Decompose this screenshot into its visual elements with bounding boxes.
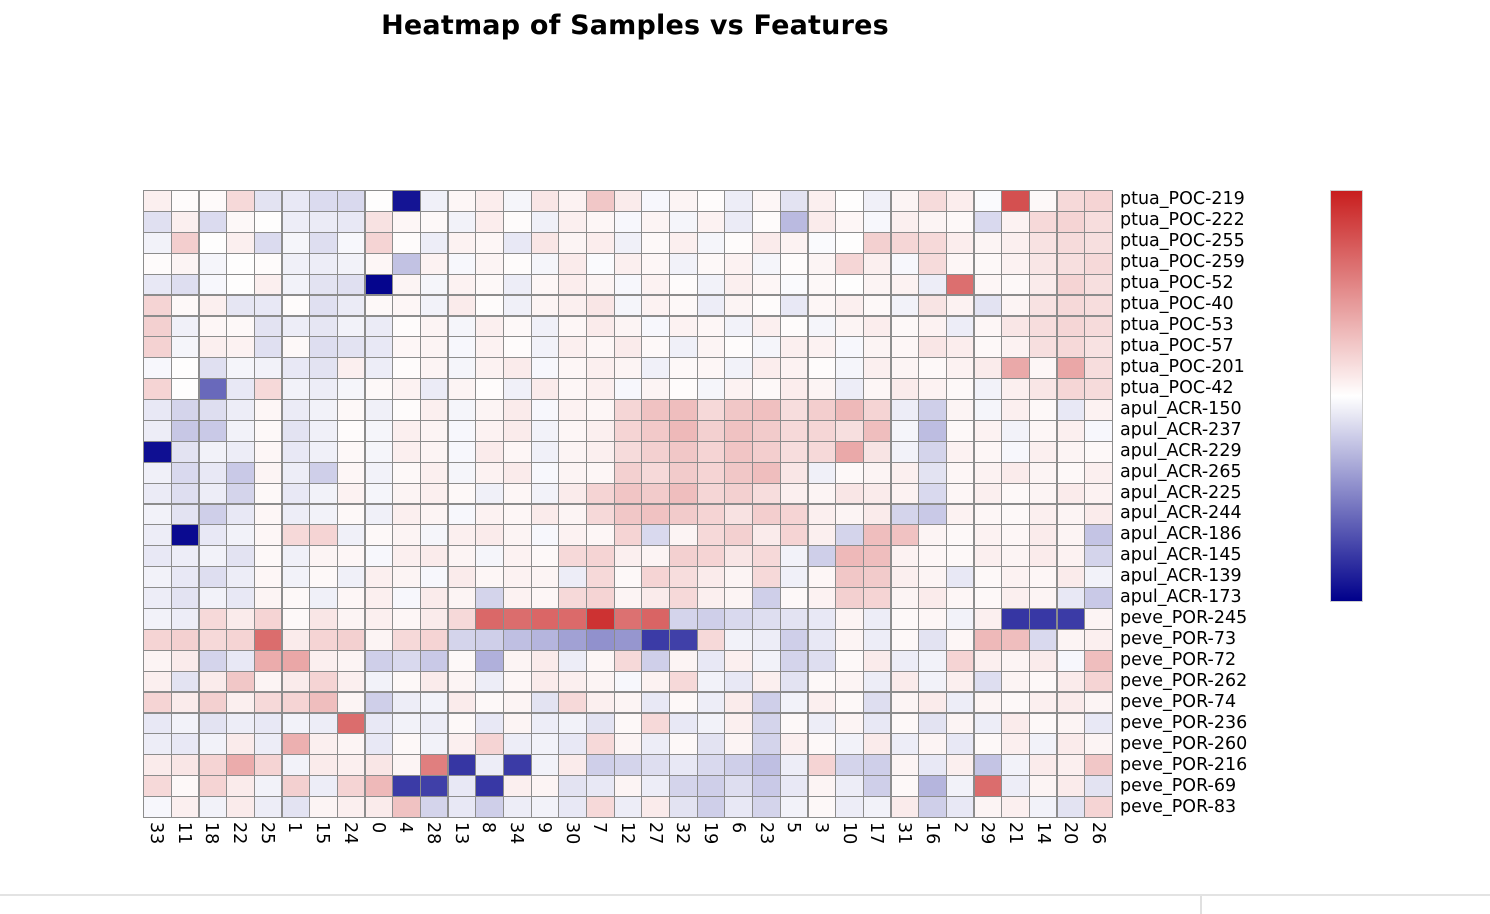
heatmap-cell[interactable] (144, 693, 170, 713)
heatmap-cell[interactable] (200, 651, 226, 671)
heatmap-cell[interactable] (366, 567, 392, 587)
heatmap-cell[interactable] (366, 734, 392, 754)
heatmap-cell[interactable] (642, 630, 669, 650)
heatmap-cell[interactable] (753, 212, 780, 232)
heatmap-cell[interactable] (809, 379, 835, 399)
heatmap-cell[interactable] (892, 672, 919, 692)
heatmap-cell[interactable] (172, 609, 199, 629)
heatmap-cell[interactable] (1058, 296, 1085, 316)
heatmap-cell[interactable] (338, 379, 365, 399)
heatmap-cell[interactable] (504, 797, 530, 817)
heatmap-cell[interactable] (393, 484, 420, 504)
heatmap-cell[interactable] (1058, 275, 1085, 295)
heatmap-cell[interactable] (227, 191, 254, 211)
heatmap-cell[interactable] (725, 755, 751, 775)
heatmap-cell[interactable] (670, 233, 696, 253)
heatmap-cell[interactable] (310, 317, 336, 337)
heatmap-cell[interactable] (227, 651, 254, 671)
heatmap-cell[interactable] (753, 442, 780, 462)
heatmap-cell[interactable] (476, 505, 503, 525)
heatmap-cell[interactable] (393, 651, 420, 671)
heatmap-cell[interactable] (1058, 233, 1085, 253)
heatmap-cell[interactable] (975, 776, 1001, 796)
heatmap-cell[interactable] (975, 714, 1001, 734)
heatmap-cell[interactable] (698, 609, 725, 629)
heatmap-cell[interactable] (587, 337, 614, 357)
heatmap-cell[interactable] (670, 755, 696, 775)
heatmap-cell[interactable] (781, 254, 808, 274)
heatmap-cell[interactable] (559, 254, 585, 274)
heatmap-cell[interactable] (836, 651, 863, 671)
heatmap-cell[interactable] (283, 525, 310, 545)
heatmap-cell[interactable] (753, 672, 780, 692)
heatmap-cell[interactable] (698, 191, 725, 211)
heatmap-cell[interactable] (947, 191, 974, 211)
heatmap-cell[interactable] (504, 588, 530, 608)
heatmap-cell[interactable] (310, 797, 336, 817)
heatmap-cell[interactable] (975, 400, 1001, 420)
heatmap-cell[interactable] (1030, 505, 1056, 525)
heatmap-cell[interactable] (947, 672, 974, 692)
heatmap-cell[interactable] (1030, 525, 1056, 545)
heatmap-cell[interactable] (892, 776, 919, 796)
heatmap-cell[interactable] (670, 317, 696, 337)
heatmap-cell[interactable] (366, 505, 392, 525)
heatmap-cell[interactable] (809, 337, 835, 357)
heatmap-cell[interactable] (919, 442, 945, 462)
heatmap-cell[interactable] (338, 546, 365, 566)
heatmap-cell[interactable] (587, 609, 614, 629)
heatmap-cell[interactable] (144, 421, 170, 441)
heatmap-cell[interactable] (1058, 588, 1085, 608)
heatmap-cell[interactable] (227, 379, 254, 399)
heatmap-cell[interactable] (919, 525, 945, 545)
heatmap-cell[interactable] (144, 734, 170, 754)
heatmap-cell[interactable] (975, 254, 1001, 274)
heatmap-cell[interactable] (947, 505, 974, 525)
heatmap-cell[interactable] (781, 714, 808, 734)
heatmap-cell[interactable] (200, 797, 226, 817)
heatmap-cell[interactable] (283, 651, 310, 671)
heatmap-cell[interactable] (227, 714, 254, 734)
heatmap-cell[interactable] (975, 567, 1001, 587)
heatmap-cell[interactable] (947, 233, 974, 253)
heatmap-cell[interactable] (670, 358, 696, 378)
heatmap-cell[interactable] (892, 337, 919, 357)
heatmap-cell[interactable] (642, 693, 669, 713)
heatmap-cell[interactable] (504, 233, 530, 253)
heatmap-cell[interactable] (200, 714, 226, 734)
heatmap-cell[interactable] (670, 442, 696, 462)
heatmap-cell[interactable] (781, 400, 808, 420)
heatmap-cell[interactable] (144, 588, 170, 608)
heatmap-cell[interactable] (836, 672, 863, 692)
heatmap-cell[interactable] (338, 421, 365, 441)
heatmap-cell[interactable] (615, 734, 641, 754)
heatmap-cell[interactable] (393, 505, 420, 525)
heatmap-cell[interactable] (615, 337, 641, 357)
heatmap-cell[interactable] (532, 776, 559, 796)
heatmap-cell[interactable] (559, 484, 585, 504)
heatmap-cell[interactable] (892, 212, 919, 232)
heatmap-cell[interactable] (642, 609, 669, 629)
heatmap-cell[interactable] (310, 651, 336, 671)
heatmap-cell[interactable] (781, 546, 808, 566)
heatmap-cell[interactable] (172, 463, 199, 483)
heatmap-cell[interactable] (919, 588, 945, 608)
heatmap-cell[interactable] (975, 651, 1001, 671)
heatmap-cell[interactable] (366, 714, 392, 734)
heatmap-cell[interactable] (1085, 776, 1111, 796)
heatmap-cell[interactable] (698, 358, 725, 378)
heatmap-cell[interactable] (200, 463, 226, 483)
heatmap-cell[interactable] (449, 755, 476, 775)
heatmap-cell[interactable] (366, 379, 392, 399)
heatmap-cell[interactable] (698, 797, 725, 817)
heatmap-cell[interactable] (642, 797, 669, 817)
heatmap-cell[interactable] (393, 233, 420, 253)
heatmap-cell[interactable] (227, 400, 254, 420)
heatmap-cell[interactable] (200, 776, 226, 796)
heatmap-cell[interactable] (892, 609, 919, 629)
heatmap-cell[interactable] (504, 505, 530, 525)
heatmap-cell[interactable] (698, 400, 725, 420)
heatmap-cell[interactable] (725, 734, 751, 754)
heatmap-cell[interactable] (476, 233, 503, 253)
heatmap-cell[interactable] (476, 317, 503, 337)
heatmap-cell[interactable] (421, 693, 447, 713)
heatmap-cell[interactable] (587, 296, 614, 316)
heatmap-cell[interactable] (975, 212, 1001, 232)
heatmap-cell[interactable] (781, 358, 808, 378)
heatmap-cell[interactable] (919, 296, 945, 316)
heatmap-cell[interactable] (504, 358, 530, 378)
heatmap-cell[interactable] (725, 714, 751, 734)
heatmap-cell[interactable] (227, 275, 254, 295)
heatmap-cell[interactable] (864, 776, 890, 796)
heatmap-cell[interactable] (283, 588, 310, 608)
heatmap-cell[interactable] (338, 776, 365, 796)
heatmap-cell[interactable] (421, 567, 447, 587)
heatmap-cell[interactable] (864, 400, 890, 420)
heatmap-cell[interactable] (1002, 714, 1029, 734)
heatmap-cell[interactable] (255, 693, 281, 713)
heatmap-cell[interactable] (172, 630, 199, 650)
heatmap-cell[interactable] (532, 651, 559, 671)
heatmap-cell[interactable] (172, 588, 199, 608)
heatmap-cell[interactable] (200, 442, 226, 462)
heatmap-cell[interactable] (504, 755, 530, 775)
heatmap-cell[interactable] (1030, 379, 1056, 399)
heatmap-cell[interactable] (559, 442, 585, 462)
heatmap-cell[interactable] (449, 317, 476, 337)
heatmap-cell[interactable] (892, 505, 919, 525)
heatmap-cell[interactable] (1085, 734, 1111, 754)
heatmap-cell[interactable] (421, 734, 447, 754)
heatmap-cell[interactable] (200, 609, 226, 629)
heatmap-cell[interactable] (864, 358, 890, 378)
heatmap-cell[interactable] (476, 400, 503, 420)
heatmap-cell[interactable] (227, 755, 254, 775)
heatmap-cell[interactable] (200, 755, 226, 775)
heatmap-cell[interactable] (504, 191, 530, 211)
heatmap-cell[interactable] (421, 588, 447, 608)
heatmap-cell[interactable] (587, 421, 614, 441)
heatmap-cell[interactable] (1058, 797, 1085, 817)
heatmap-cell[interactable] (725, 233, 751, 253)
heatmap-cell[interactable] (1085, 191, 1111, 211)
heatmap-cell[interactable] (172, 546, 199, 566)
heatmap-cell[interactable] (227, 421, 254, 441)
heatmap-cell[interactable] (200, 484, 226, 504)
heatmap-cell[interactable] (283, 212, 310, 232)
heatmap-cell[interactable] (283, 337, 310, 357)
heatmap-cell[interactable] (283, 484, 310, 504)
heatmap-cell[interactable] (559, 776, 585, 796)
heatmap-cell[interactable] (642, 421, 669, 441)
heatmap-cell[interactable] (1058, 693, 1085, 713)
heatmap-cell[interactable] (310, 337, 336, 357)
heatmap-cell[interactable] (1058, 317, 1085, 337)
heatmap-cell[interactable] (864, 254, 890, 274)
heatmap-cell[interactable] (1030, 421, 1056, 441)
heatmap-cell[interactable] (864, 755, 890, 775)
heatmap-cell[interactable] (670, 693, 696, 713)
heatmap-cell[interactable] (144, 609, 170, 629)
heatmap-cell[interactable] (1002, 463, 1029, 483)
heatmap-cell[interactable] (1002, 379, 1029, 399)
heatmap-cell[interactable] (283, 358, 310, 378)
heatmap-cell[interactable] (753, 609, 780, 629)
heatmap-cell[interactable] (421, 755, 447, 775)
heatmap-cell[interactable] (1058, 379, 1085, 399)
heatmap-cell[interactable] (836, 525, 863, 545)
heatmap-cell[interactable] (753, 797, 780, 817)
heatmap-cell[interactable] (393, 463, 420, 483)
heatmap-cell[interactable] (449, 337, 476, 357)
heatmap-cell[interactable] (615, 546, 641, 566)
heatmap-cell[interactable] (753, 233, 780, 253)
heatmap-cell[interactable] (172, 296, 199, 316)
heatmap-cell[interactable] (338, 191, 365, 211)
heatmap-cell[interactable] (587, 546, 614, 566)
heatmap-cell[interactable] (947, 776, 974, 796)
heatmap-cell[interactable] (200, 254, 226, 274)
heatmap-cell[interactable] (283, 609, 310, 629)
heatmap-cell[interactable] (144, 755, 170, 775)
heatmap-cell[interactable] (421, 505, 447, 525)
heatmap-cell[interactable] (421, 337, 447, 357)
heatmap-cell[interactable] (642, 379, 669, 399)
heatmap-cell[interactable] (144, 505, 170, 525)
heatmap-cell[interactable] (781, 505, 808, 525)
heatmap-cell[interactable] (1002, 755, 1029, 775)
heatmap-cell[interactable] (642, 191, 669, 211)
heatmap-cell[interactable] (725, 651, 751, 671)
heatmap-cell[interactable] (670, 546, 696, 566)
heatmap-cell[interactable] (892, 484, 919, 504)
heatmap-cell[interactable] (310, 714, 336, 734)
heatmap-cell[interactable] (227, 358, 254, 378)
heatmap-cell[interactable] (698, 755, 725, 775)
heatmap-cell[interactable] (338, 254, 365, 274)
heatmap-cell[interactable] (366, 797, 392, 817)
heatmap-cell[interactable] (864, 546, 890, 566)
heatmap-cell[interactable] (1058, 484, 1085, 504)
heatmap-cell[interactable] (310, 400, 336, 420)
heatmap-cell[interactable] (809, 609, 835, 629)
heatmap-cell[interactable] (670, 525, 696, 545)
heatmap-cell[interactable] (393, 734, 420, 754)
heatmap-cell[interactable] (642, 484, 669, 504)
heatmap-cell[interactable] (504, 609, 530, 629)
heatmap-cell[interactable] (947, 421, 974, 441)
heatmap-cell[interactable] (670, 296, 696, 316)
heatmap-cell[interactable] (476, 337, 503, 357)
heatmap-cell[interactable] (892, 693, 919, 713)
heatmap-cell[interactable] (615, 296, 641, 316)
heatmap-cell[interactable] (1030, 797, 1056, 817)
heatmap-cell[interactable] (255, 296, 281, 316)
heatmap-cell[interactable] (670, 484, 696, 504)
heatmap-cell[interactable] (892, 755, 919, 775)
heatmap-cell[interactable] (947, 609, 974, 629)
heatmap-cell[interactable] (532, 358, 559, 378)
heatmap-cell[interactable] (1085, 379, 1111, 399)
heatmap-cell[interactable] (338, 714, 365, 734)
heatmap-cell[interactable] (781, 588, 808, 608)
heatmap-cell[interactable] (615, 317, 641, 337)
heatmap-cell[interactable] (200, 734, 226, 754)
heatmap-cell[interactable] (1030, 233, 1056, 253)
heatmap-cell[interactable] (1030, 609, 1056, 629)
heatmap-cell[interactable] (227, 484, 254, 504)
heatmap-cell[interactable] (864, 212, 890, 232)
heatmap-cell[interactable] (283, 379, 310, 399)
heatmap-cell[interactable] (698, 442, 725, 462)
heatmap-cell[interactable] (892, 275, 919, 295)
heatmap-cell[interactable] (504, 212, 530, 232)
heatmap-cell[interactable] (725, 546, 751, 566)
heatmap-cell[interactable] (919, 693, 945, 713)
heatmap-cell[interactable] (947, 525, 974, 545)
heatmap-cell[interactable] (338, 337, 365, 357)
heatmap-cell[interactable] (975, 755, 1001, 775)
heatmap-cell[interactable] (366, 421, 392, 441)
heatmap-cell[interactable] (449, 421, 476, 441)
heatmap-cell[interactable] (919, 505, 945, 525)
heatmap-cell[interactable] (172, 358, 199, 378)
heatmap-cell[interactable] (919, 317, 945, 337)
heatmap-cell[interactable] (532, 630, 559, 650)
heatmap-cell[interactable] (615, 484, 641, 504)
heatmap-cell[interactable] (144, 233, 170, 253)
heatmap-cell[interactable] (587, 463, 614, 483)
heatmap-cell[interactable] (698, 337, 725, 357)
heatmap-cell[interactable] (1002, 275, 1029, 295)
heatmap-cell[interactable] (975, 630, 1001, 650)
heatmap-cell[interactable] (642, 588, 669, 608)
heatmap-cell[interactable] (975, 546, 1001, 566)
heatmap-cell[interactable] (338, 567, 365, 587)
heatmap-cell[interactable] (421, 421, 447, 441)
heatmap-cell[interactable] (283, 567, 310, 587)
heatmap-cell[interactable] (449, 358, 476, 378)
heatmap-cell[interactable] (670, 672, 696, 692)
heatmap-cell[interactable] (809, 714, 835, 734)
heatmap-cell[interactable] (1058, 442, 1085, 462)
heatmap-cell[interactable] (200, 400, 226, 420)
heatmap-cell[interactable] (559, 797, 585, 817)
heatmap-cell[interactable] (144, 212, 170, 232)
heatmap-cell[interactable] (919, 254, 945, 274)
heatmap-cell[interactable] (642, 254, 669, 274)
heatmap-cell[interactable] (421, 212, 447, 232)
heatmap-cell[interactable] (836, 588, 863, 608)
heatmap-cell[interactable] (725, 442, 751, 462)
heatmap-cell[interactable] (532, 525, 559, 545)
heatmap-cell[interactable] (283, 296, 310, 316)
heatmap-cell[interactable] (200, 233, 226, 253)
heatmap-cell[interactable] (1058, 191, 1085, 211)
heatmap-cell[interactable] (864, 630, 890, 650)
heatmap-cell[interactable] (532, 693, 559, 713)
heatmap-cell[interactable] (587, 212, 614, 232)
heatmap-cell[interactable] (753, 191, 780, 211)
heatmap-cell[interactable] (753, 505, 780, 525)
heatmap-cell[interactable] (449, 296, 476, 316)
heatmap-cell[interactable] (310, 421, 336, 441)
heatmap-cell[interactable] (919, 567, 945, 587)
heatmap-cell[interactable] (1058, 525, 1085, 545)
heatmap-cell[interactable] (725, 317, 751, 337)
heatmap-cell[interactable] (836, 630, 863, 650)
heatmap-cell[interactable] (975, 442, 1001, 462)
heatmap-cell[interactable] (947, 254, 974, 274)
heatmap-cell[interactable] (1058, 212, 1085, 232)
heatmap-cell[interactable] (642, 672, 669, 692)
heatmap-cell[interactable] (227, 734, 254, 754)
heatmap-cell[interactable] (642, 358, 669, 378)
heatmap-cell[interactable] (200, 525, 226, 545)
heatmap-cell[interactable] (559, 379, 585, 399)
heatmap-cell[interactable] (892, 734, 919, 754)
heatmap-cell[interactable] (366, 254, 392, 274)
heatmap-cell[interactable] (476, 254, 503, 274)
heatmap-cell[interactable] (809, 776, 835, 796)
heatmap-cell[interactable] (1085, 421, 1111, 441)
heatmap-cell[interactable] (975, 337, 1001, 357)
heatmap-cell[interactable] (836, 609, 863, 629)
heatmap-cell[interactable] (1030, 400, 1056, 420)
heatmap-cell[interactable] (698, 734, 725, 754)
heatmap-cell[interactable] (393, 337, 420, 357)
heatmap-cell[interactable] (504, 525, 530, 545)
heatmap-cell[interactable] (698, 233, 725, 253)
heatmap-cell[interactable] (476, 755, 503, 775)
heatmap-cell[interactable] (1030, 358, 1056, 378)
heatmap-cell[interactable] (864, 734, 890, 754)
heatmap-cell[interactable] (449, 233, 476, 253)
heatmap-cell[interactable] (1085, 525, 1111, 545)
heatmap-cell[interactable] (310, 254, 336, 274)
heatmap-cell[interactable] (864, 588, 890, 608)
heatmap-cell[interactable] (809, 525, 835, 545)
heatmap-cell[interactable] (1002, 421, 1029, 441)
heatmap-cell[interactable] (698, 546, 725, 566)
heatmap-cell[interactable] (227, 546, 254, 566)
heatmap-cell[interactable] (1030, 546, 1056, 566)
